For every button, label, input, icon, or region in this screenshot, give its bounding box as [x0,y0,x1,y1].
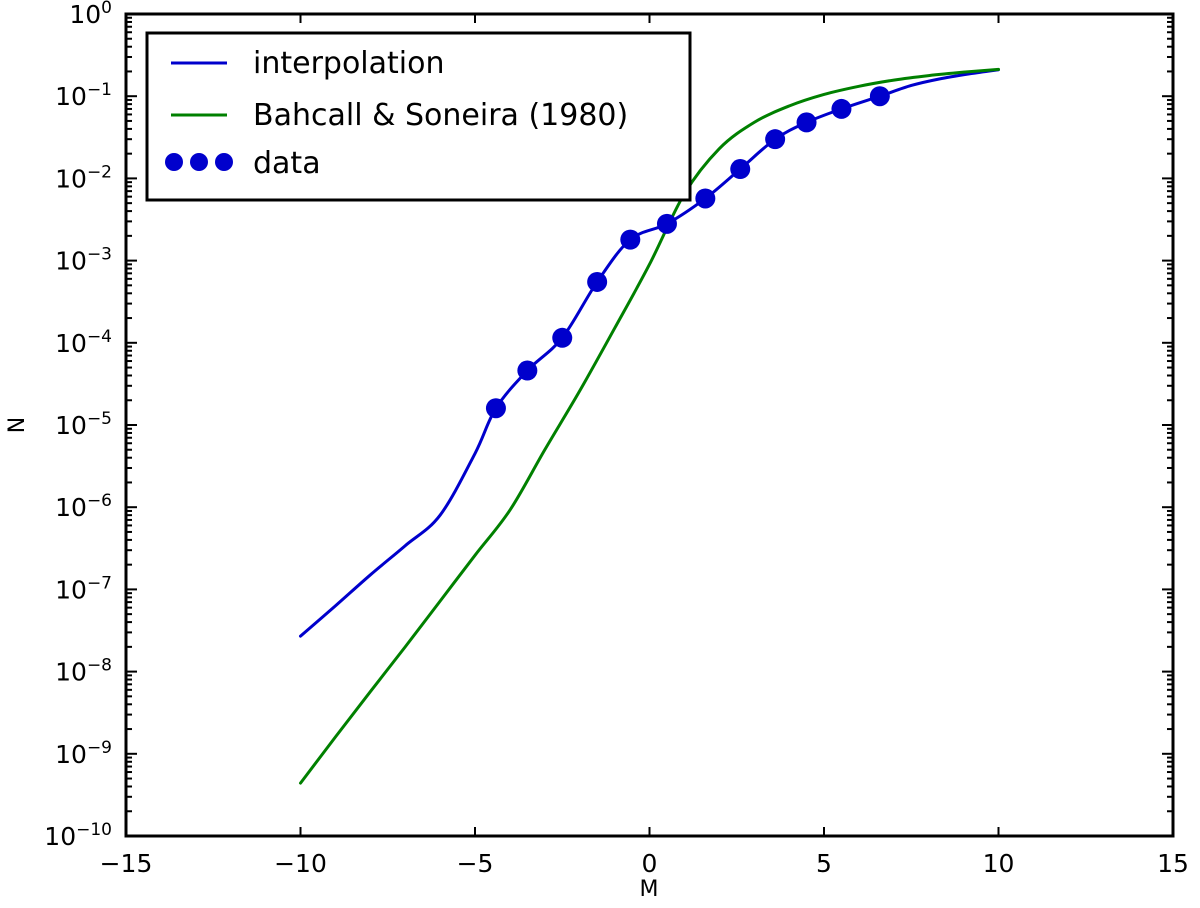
x-axis-title: M [640,877,659,902]
legend-dot-swatch [215,153,233,171]
data-point-marker [517,361,537,381]
data-point-marker [831,99,851,119]
data-point-marker [486,398,506,418]
data-point-marker [552,328,572,348]
data-point-marker [870,86,890,106]
data-point-marker [730,159,750,179]
x-tick-label: −10 [274,849,327,878]
x-tick-label: 0 [642,849,658,878]
figure-canvas: 10010−110−210−310−410−510−610−710−810−91… [0,0,1200,908]
data-point-marker [657,214,677,234]
y-axis-title: N [5,417,30,433]
data-point-marker [620,230,640,250]
chart-legend[interactable]: interpolationBahcall & Soneira (1980)dat… [147,33,690,200]
data-point-marker [797,112,817,132]
chart-plot: 10010−110−210−310−410−510−610−710−810−91… [0,0,1200,908]
legend-dot-swatch [190,153,208,171]
legend-label: data [253,146,321,181]
legend-dot-swatch [165,153,183,171]
x-tick-label: −15 [100,849,153,878]
x-tick-label: 10 [983,849,1015,878]
x-tick-label: 15 [1157,849,1189,878]
legend-label: interpolation [253,46,444,81]
x-tick-label: 5 [816,849,832,878]
x-tick-label: −5 [457,849,494,878]
data-point-marker [765,129,785,149]
legend-label: Bahcall & Soneira (1980) [253,98,628,133]
data-point-marker [695,188,715,208]
data-point-marker [587,272,607,292]
